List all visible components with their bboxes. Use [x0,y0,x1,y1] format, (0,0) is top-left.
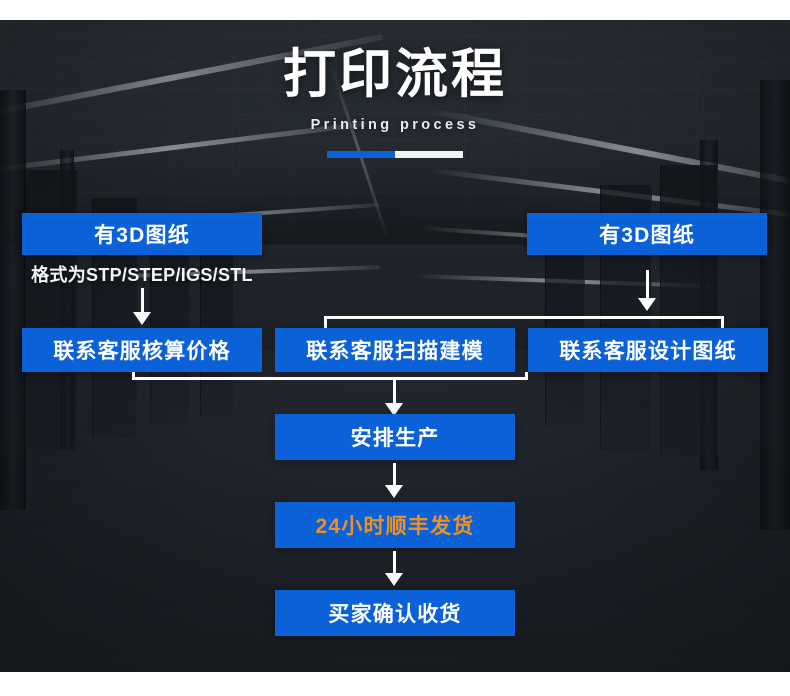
flow-box-contact-service-quote[interactable]: 联系客服核算价格 [22,328,262,372]
connector-line-right-down [646,270,649,300]
bracket-top-right-stub [721,316,724,328]
arrow-head-right-down [638,298,656,311]
connector-line-left-down [141,288,144,314]
connector-line-to-confirm [393,551,396,575]
process-flowchart: 有3D图纸 有3D图纸 格式为STP/STEP/IGS/STL 联系客服核算价格… [0,0,790,696]
bracket-bottom-horizontal [132,377,528,380]
connector-line-to-shipping [393,463,396,487]
arrow-head-left-down [133,312,151,325]
connector-line-to-production [393,377,396,405]
bracket-bottom-left-stub [132,372,135,378]
flow-box-arrange-production[interactable]: 安排生产 [275,414,515,460]
bracket-bottom-right-stub [525,372,528,378]
flow-box-has-3d-drawing-left[interactable]: 有3D图纸 [22,213,262,255]
bracket-top-horizontal [324,316,724,319]
flow-box-contact-service-design-drawing[interactable]: 联系客服设计图纸 [528,328,768,372]
flow-box-has-3d-drawing-right[interactable]: 有3D图纸 [527,213,767,255]
arrow-head-to-confirm [385,573,403,586]
arrow-head-to-shipping [385,485,403,498]
flow-box-sf-express-24h[interactable]: 24小时顺丰发货 [275,502,515,548]
flow-box-contact-service-scan-model[interactable]: 联系客服扫描建模 [275,328,515,372]
bottom-white-band [0,672,790,696]
drawing-format-caption: 格式为STP/STEP/IGS/STL [22,261,262,287]
bracket-top-left-stub [324,316,327,328]
flow-box-buyer-confirm-receipt[interactable]: 买家确认收货 [275,590,515,636]
promo-flowchart-page: 打印流程 Printing process 有3D图纸 有3D图纸 格式为STP… [0,0,790,696]
